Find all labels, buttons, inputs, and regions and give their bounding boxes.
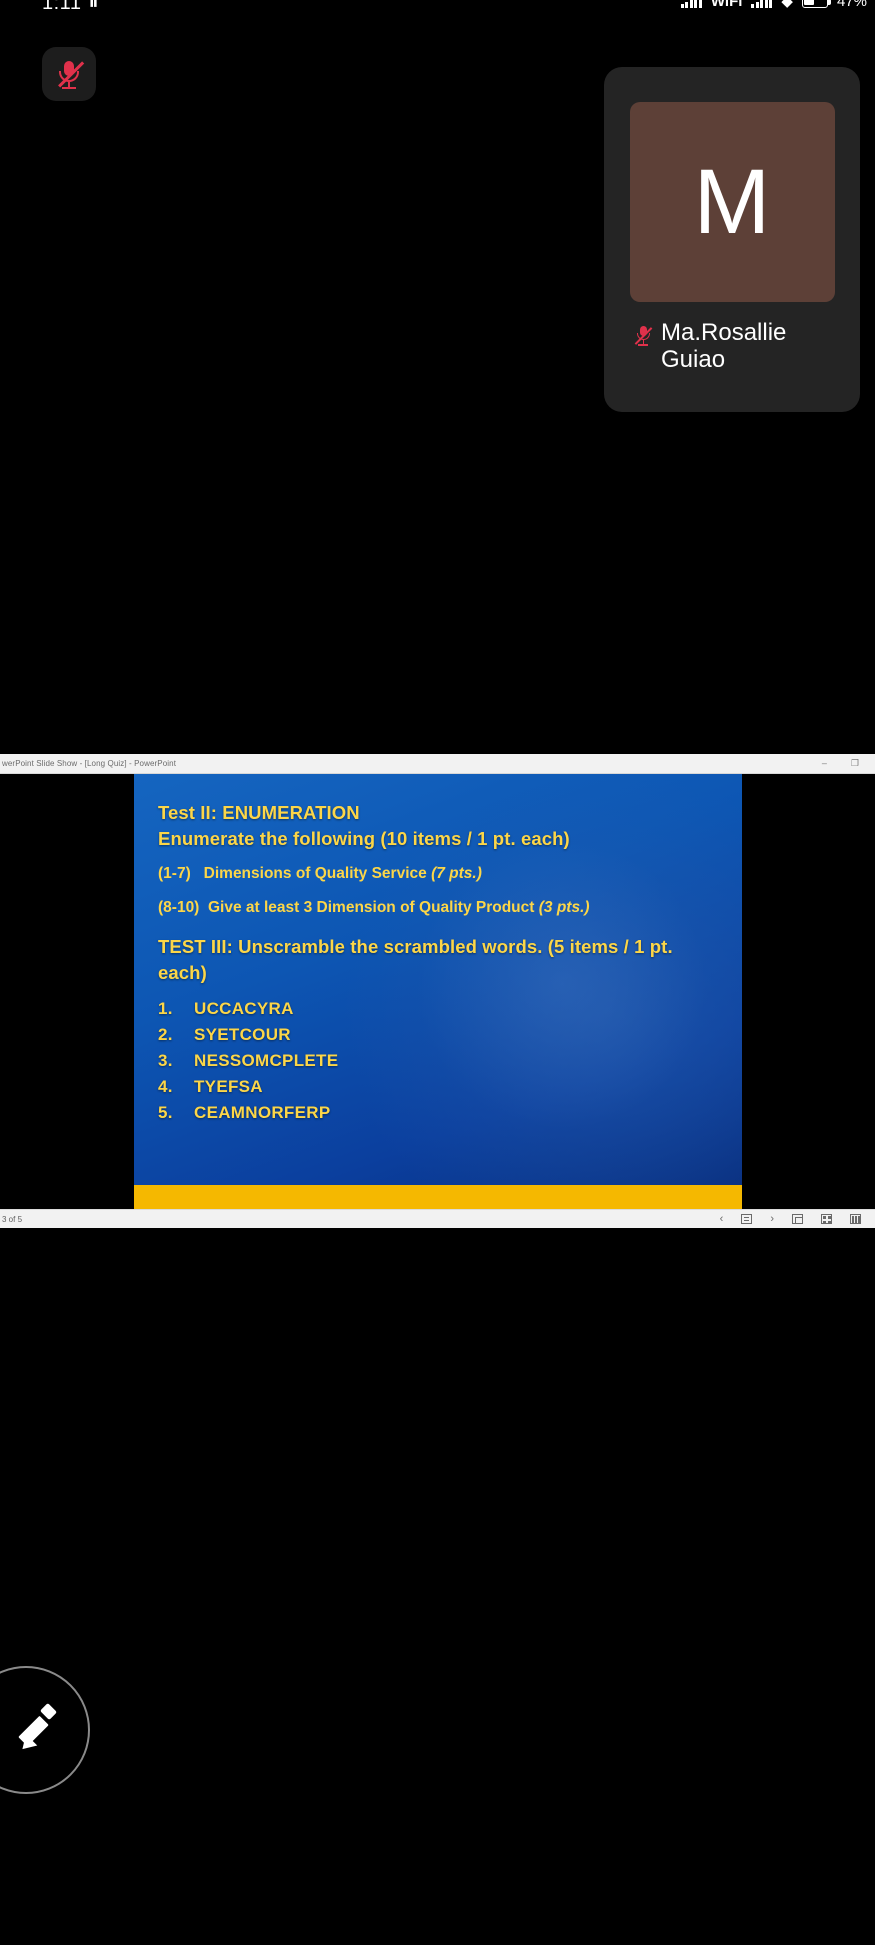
list-item-number: 3.: [158, 1048, 180, 1074]
next-slide-icon[interactable]: ›: [770, 1213, 774, 1225]
scrambled-word-list: 1. UCCACYRA 2. SYETCOUR 3. NESSOMCPLETE …: [158, 996, 724, 1125]
list-item: 5. CEAMNORFERP: [158, 1100, 724, 1126]
previous-slide-icon[interactable]: ‹: [720, 1213, 724, 1225]
slide-heading-1: Test II: ENUMERATION: [158, 800, 724, 826]
list-item-number: 1.: [158, 996, 180, 1022]
list-item: 4. TYEFSA: [158, 1074, 724, 1100]
avatar: M: [630, 102, 835, 302]
battery-percent: 47%: [837, 0, 867, 10]
slide-content: Test II: ENUMERATION Enumerate the follo…: [158, 800, 724, 1126]
restore-button[interactable]: ❐: [851, 759, 859, 768]
status-bar-tools: ‹ ›: [720, 1213, 875, 1225]
microphone-muted-icon: [634, 325, 652, 347]
range-text: Give at least 3 Dimension of Quality Pro…: [208, 899, 534, 916]
list-item-number: 2.: [158, 1022, 180, 1048]
enumeration-item-8-10: (8-10) Give at least 3 Dimension of Qual…: [158, 897, 724, 919]
list-item-word: CEAMNORFERP: [194, 1100, 330, 1126]
mobile-data-icon: ◆: [781, 0, 793, 10]
bottom-black-area: [0, 1228, 875, 1945]
list-item-word: TYEFSA: [194, 1074, 263, 1100]
battery-icon: [802, 0, 828, 8]
window-title: werPoint Slide Show - [Long Quiz] - Powe…: [0, 759, 176, 768]
signal-bars-icon: [751, 0, 772, 8]
slide-heading-3: TEST III: Unscramble the scrambled words…: [158, 934, 724, 985]
self-mute-button[interactable]: [42, 47, 96, 101]
participant-tile[interactable]: M Ma.Rosallie Guiao: [604, 67, 860, 412]
status-bar-right: WiFi ◆ 47%: [681, 0, 867, 10]
list-item: 2. SYETCOUR: [158, 1022, 724, 1048]
range-points: (3 pts.): [539, 899, 590, 916]
microphone-muted-icon: [56, 59, 82, 89]
powerpoint-status-bar: 3 of 5 ‹ ›: [0, 1209, 875, 1228]
meeting-video-area: M Ma.Rosallie Guiao: [0, 18, 875, 754]
slide[interactable]: Test II: ENUMERATION Enumerate the follo…: [134, 774, 742, 1209]
pencil-icon: [18, 1708, 62, 1752]
list-item: 3. NESSOMCPLETE: [158, 1048, 724, 1074]
wifi-icon: WiFi: [711, 0, 743, 10]
range-points: (7 pts.): [431, 865, 482, 882]
window-controls: – ❐: [822, 759, 875, 768]
list-item-word: NESSOMCPLETE: [194, 1048, 338, 1074]
slide-stage: Test II: ENUMERATION Enumerate the follo…: [0, 774, 875, 1209]
slide-footer-bar: [134, 1185, 742, 1209]
notes-icon[interactable]: [741, 1214, 752, 1224]
range-text: Dimensions of Quality Service: [204, 865, 427, 882]
pause-icon: ⏸: [88, 0, 99, 15]
annotate-button[interactable]: [0, 1666, 90, 1794]
enumeration-item-1-7: (1-7) Dimensions of Quality Service (7 p…: [158, 863, 724, 885]
avatar-initial: M: [694, 156, 771, 248]
slide-show-icon[interactable]: [850, 1214, 861, 1224]
slide-heading-2: Enumerate the following (10 items / 1 pt…: [158, 826, 724, 852]
android-status-bar: 1:11 ⏸ WiFi ◆ 47%: [0, 0, 875, 18]
list-item-number: 4.: [158, 1074, 180, 1100]
participant-name: Ma.Rosallie Guiao: [661, 319, 821, 374]
minimize-button[interactable]: –: [822, 759, 827, 768]
powerpoint-title-bar[interactable]: werPoint Slide Show - [Long Quiz] - Powe…: [0, 754, 875, 774]
list-item-number: 5.: [158, 1100, 180, 1126]
list-item-word: SYETCOUR: [194, 1022, 291, 1048]
reading-view-icon[interactable]: [792, 1214, 803, 1224]
list-item: 1. UCCACYRA: [158, 996, 724, 1022]
range-label: (1-7): [158, 865, 191, 882]
range-label: (8-10): [158, 899, 199, 916]
list-item-word: UCCACYRA: [194, 996, 294, 1022]
signal-bars-icon: [681, 0, 702, 8]
slide-sorter-icon[interactable]: [821, 1214, 832, 1224]
participant-name-row: Ma.Rosallie Guiao: [624, 319, 840, 374]
clock: 1:11: [42, 0, 81, 15]
powerpoint-window: werPoint Slide Show - [Long Quiz] - Powe…: [0, 754, 875, 1228]
slide-page-indicator: 3 of 5: [0, 1215, 22, 1224]
status-bar-left: 1:11 ⏸: [42, 0, 99, 15]
